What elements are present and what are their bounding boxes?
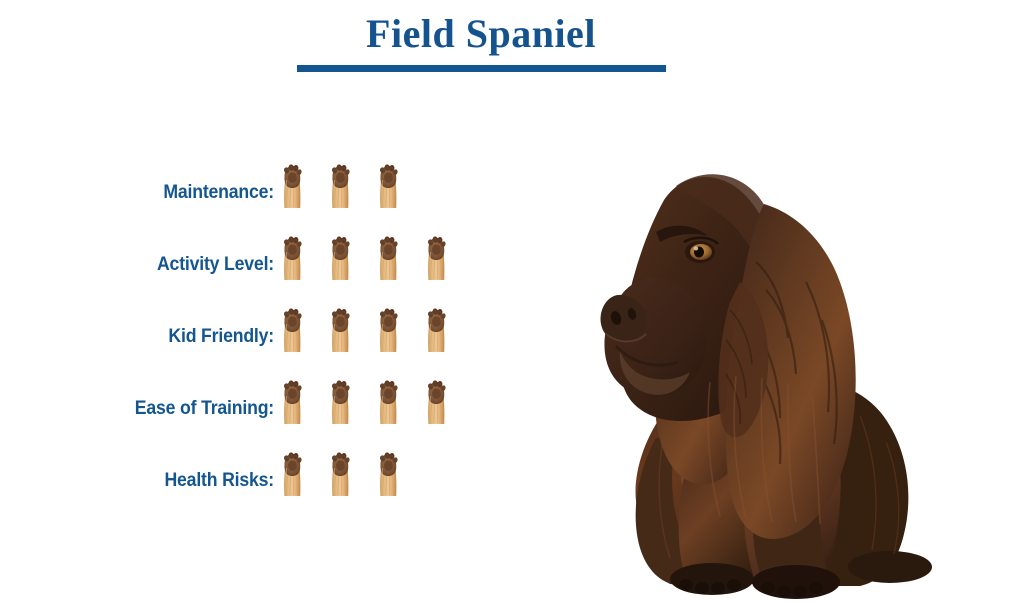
dog-paw-icon — [277, 376, 308, 426]
rating-row: Ease of Training: — [0, 368, 500, 440]
dog-paw-icon — [373, 232, 404, 282]
ratings-panel: Maintenance:Activity Level:Kid Friendly:… — [0, 152, 500, 512]
dog-paw-icon — [421, 232, 452, 282]
rating-label-maintenance: Maintenance: — [19, 182, 274, 204]
rating-label-health-risks: Health Risks: — [19, 470, 274, 492]
dog-paw-icon — [277, 304, 308, 354]
page-title: Field Spaniel — [0, 12, 962, 56]
dog-paw-icon — [373, 376, 404, 426]
dog-paw-icon — [277, 448, 308, 498]
rating-paw-strip — [277, 304, 452, 354]
rating-row: Maintenance: — [0, 152, 500, 224]
rating-paw-strip — [277, 376, 452, 426]
rating-paw-strip — [277, 232, 452, 282]
dog-paw-icon — [373, 304, 404, 354]
dog-paw-icon — [277, 160, 308, 210]
dog-paw-icon — [325, 160, 356, 210]
dog-paw-icon — [325, 232, 356, 282]
rating-row: Kid Friendly: — [0, 296, 500, 368]
rating-row: Activity Level: — [0, 224, 500, 296]
rating-label-activity-level: Activity Level: — [19, 254, 274, 276]
title-underline-rule — [297, 65, 666, 72]
dog-paw-icon — [373, 160, 404, 210]
rating-label-ease-of-training: Ease of Training: — [19, 398, 274, 420]
dog-paw-icon — [325, 304, 356, 354]
dog-photo — [560, 82, 1010, 603]
dog-paw-icon — [277, 232, 308, 282]
rating-paw-strip — [277, 448, 404, 498]
rating-label-kid-friendly: Kid Friendly: — [19, 326, 274, 348]
dog-paw-icon — [421, 304, 452, 354]
dog-paw-icon — [325, 376, 356, 426]
dog-paw-icon — [325, 448, 356, 498]
rating-row: Health Risks: — [0, 440, 500, 512]
rating-paw-strip — [277, 160, 404, 210]
dog-paw-icon — [421, 376, 452, 426]
dog-paw-icon — [373, 448, 404, 498]
